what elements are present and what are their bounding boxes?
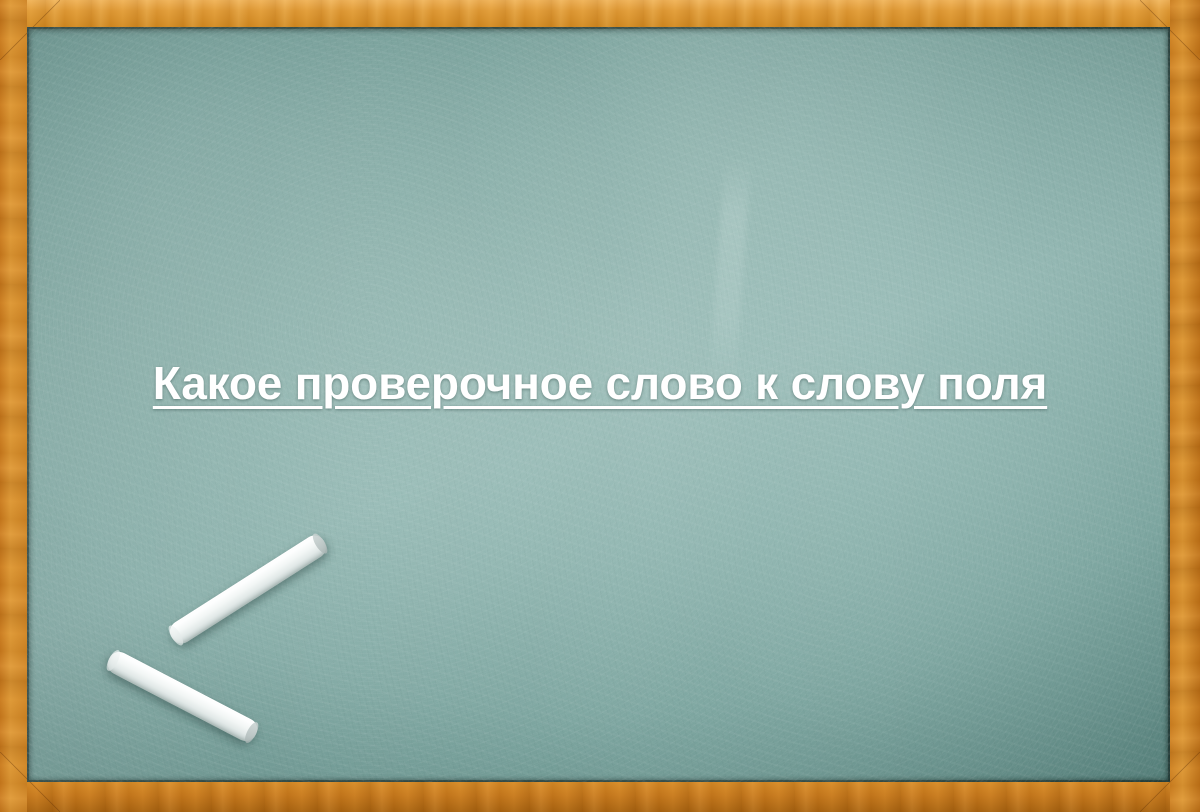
frame-rail-top: [0, 0, 1200, 27]
frame-rail-right: [1170, 0, 1200, 812]
frame-rail-left: [0, 0, 27, 812]
chalk-smudge-streak: [709, 156, 751, 387]
frame-rail-bottom: [0, 782, 1200, 812]
chalkboard-surface: [27, 27, 1170, 782]
chalkboard-scene: Какое проверочное слово к слову поля: [0, 0, 1200, 812]
